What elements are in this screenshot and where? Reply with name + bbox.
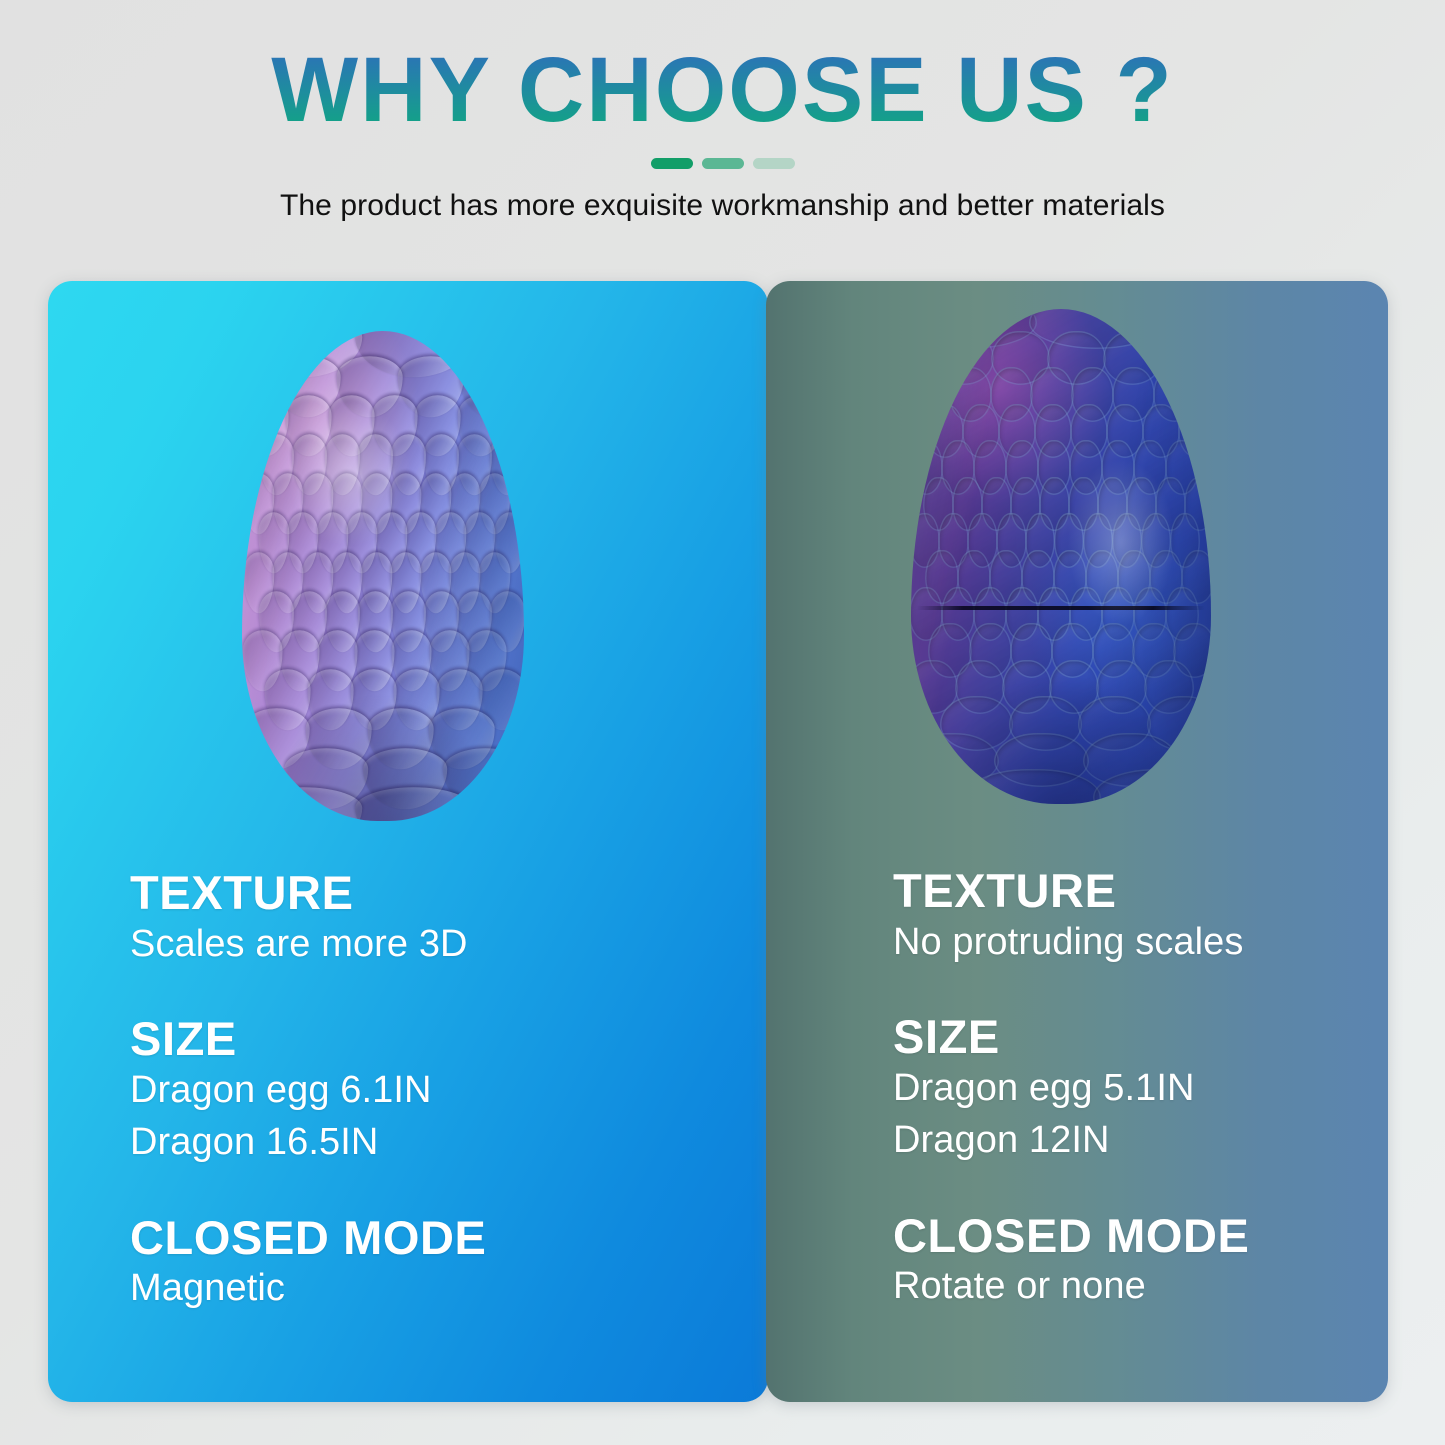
spec-title: SIZE (893, 1012, 1250, 1063)
spec-line: Dragon 12IN (893, 1115, 1250, 1167)
product-image-others (766, 291, 1388, 811)
product-image-ours (48, 309, 768, 829)
comparison-cards: TEXTURE Scales are more 3D SIZE Dragon e… (48, 281, 1388, 1402)
dash-2-icon (702, 158, 744, 169)
spec-title: CLOSED MODE (893, 1211, 1250, 1262)
scale-texture-layer (242, 331, 524, 821)
product-card-others: TEXTURE No protruding scales SIZE Dragon… (766, 281, 1388, 1402)
dash-1-icon (651, 158, 693, 169)
spec-line: Rotate or none (893, 1261, 1250, 1313)
spec-item-closed-mode: CLOSED MODE Magnetic (130, 1213, 487, 1315)
spec-item-closed-mode: CLOSED MODE Rotate or none (893, 1211, 1250, 1313)
spec-line: Dragon 16.5IN (130, 1117, 487, 1169)
spec-title: SIZE (130, 1014, 487, 1065)
spec-list-others: TEXTURE No protruding scales SIZE Dragon… (893, 866, 1250, 1313)
spec-title: TEXTURE (893, 866, 1250, 917)
header: WHY CHOOSE US ? The product has more exq… (0, 0, 1445, 223)
spec-item-size: SIZE Dragon egg 6.1IN Dragon 16.5IN (130, 1014, 487, 1168)
comparison-infographic: WHY CHOOSE US ? The product has more exq… (0, 0, 1445, 1445)
spec-item-texture: TEXTURE No protruding scales (893, 866, 1250, 968)
spec-title: TEXTURE (130, 868, 487, 919)
spec-line: No protruding scales (893, 917, 1250, 969)
page-subtitle: The product has more exquisite workmansh… (0, 169, 1445, 223)
dragon-egg-textured (242, 331, 524, 821)
spec-line: Magnetic (130, 1263, 487, 1315)
spec-item-texture: TEXTURE Scales are more 3D (130, 868, 487, 970)
dash-3-icon (753, 158, 795, 169)
spec-title: CLOSED MODE (130, 1213, 487, 1264)
dragon-egg-plain (911, 309, 1211, 804)
egg-seam-line (917, 606, 1205, 610)
product-card-ours: TEXTURE Scales are more 3D SIZE Dragon e… (48, 281, 768, 1402)
spec-line: Dragon egg 6.1IN (130, 1065, 487, 1117)
spec-line: Scales are more 3D (130, 919, 487, 971)
page-title: WHY CHOOSE US ? (0, 0, 1445, 136)
spec-list-ours: TEXTURE Scales are more 3D SIZE Dragon e… (130, 868, 487, 1315)
spec-line: Dragon egg 5.1IN (893, 1063, 1250, 1115)
spec-item-size: SIZE Dragon egg 5.1IN Dragon 12IN (893, 1012, 1250, 1166)
title-underline-dashes (0, 158, 1445, 169)
scale-texture-layer (911, 309, 1211, 804)
